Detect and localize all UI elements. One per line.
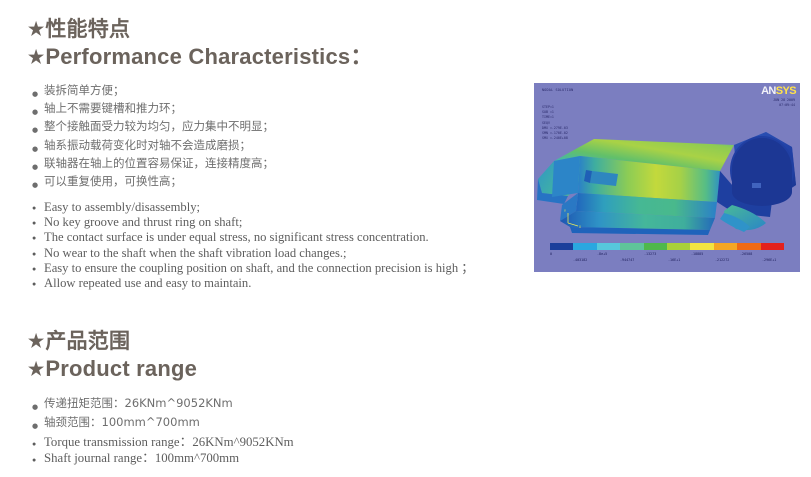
list-item: The contact surface is under equal stres… xyxy=(32,230,474,245)
product-range-heading-cn: ★产品范围 xyxy=(28,328,197,355)
colorbar-tick-label: .26508 xyxy=(740,252,752,256)
performance-bullets-en: Easy to assembly/disassembly; No key gro… xyxy=(32,200,474,291)
page-root: ★性能特点 ★Performance Characteristics： 装拆简单… xyxy=(0,0,811,477)
performance-heading-en: ★Performance Characteristics： xyxy=(28,43,373,71)
list-item: Torque transmission range：26KNm^9052KNm xyxy=(32,434,294,450)
colorbar-tick-label: .18885 xyxy=(691,252,703,256)
list-item: Shaft journal range：100mm^700mm xyxy=(32,450,294,466)
fea-header-text: NODAL SOLUTION xyxy=(542,88,573,93)
colorbar-swatch xyxy=(667,243,690,250)
list-item: Easy to ensure the coupling position on … xyxy=(32,261,474,276)
list-item: Allow repeated use and easy to maintain. xyxy=(32,276,474,291)
fea-model-geometry: Y X xyxy=(534,101,800,236)
list-item: 整个接触面受力较为均匀，应力集中不明显； xyxy=(32,117,274,135)
performance-heading-group: ★性能特点 ★Performance Characteristics： xyxy=(28,16,373,71)
colorbar-tick-label: .16E+1 xyxy=(668,258,680,262)
product-range-heading-cn-text: 产品范围 xyxy=(45,330,130,353)
star-icon: ★ xyxy=(28,47,44,67)
colorbar-tick-label: .944747 xyxy=(620,258,634,262)
list-item: No key groove and thrust ring on shaft; xyxy=(32,215,474,230)
star-icon: ★ xyxy=(28,359,44,379)
star-icon: ★ xyxy=(28,19,44,39)
list-item: 轴颈范围：100mm^700mm xyxy=(32,413,233,432)
performance-bullets-cn: 装拆简单方便； 轴上不需要键槽和推力环； 整个接触面受力较为均匀，应力集中不明显… xyxy=(32,81,274,190)
ansys-logo: ANSYS xyxy=(761,85,796,97)
colorbar-swatch xyxy=(761,243,784,250)
colorbar-swatch xyxy=(620,243,643,250)
svg-text:X: X xyxy=(579,225,581,229)
product-range-heading-group: ★产品范围 ★Product range xyxy=(28,328,197,383)
list-item: Easy to assembly/disassembly; xyxy=(32,200,474,215)
performance-heading-cn-text: 性能特点 xyxy=(45,18,130,41)
list-item: No wear to the shaft when the shaft vibr… xyxy=(32,246,474,261)
colorbar-swatch xyxy=(690,243,713,250)
colorbar-swatch xyxy=(597,243,620,250)
colorbar-tick-label: 0 xyxy=(550,252,552,256)
ansys-logo-an: AN xyxy=(761,85,776,97)
product-range-heading-en: ★Product range xyxy=(28,355,197,383)
list-item: 可以重复使用，可换性高； xyxy=(32,172,274,190)
colorbar-tick-label: .296E+1 xyxy=(762,258,776,262)
fea-canvas: NODAL SOLUTION STEP=1 SUB =1 TIME=1 SEQV… xyxy=(534,83,800,272)
performance-heading-cn: ★性能特点 xyxy=(28,16,373,43)
list-item: 轴系振动载荷变化时对轴不会造成磨损； xyxy=(32,136,274,154)
product-range-bullets-cn: 传递扭矩范围：26KNm^9052KNm 轴颈范围：100mm^700mm xyxy=(32,394,233,432)
ansys-logo-sys: SYS xyxy=(776,85,796,97)
ansys-fea-figure: NODAL SOLUTION STEP=1 SUB =1 TIME=1 SEQV… xyxy=(534,83,800,272)
colorbar-swatch xyxy=(550,243,573,250)
colorbar-swatch xyxy=(714,243,737,250)
colorbar-tick-label: .8e+5 xyxy=(597,252,607,256)
star-icon: ★ xyxy=(28,331,44,351)
colorbar-swatch xyxy=(737,243,760,250)
colorbar-tick-label: .13273 xyxy=(644,252,656,256)
colorbar-tick-label: .212272 xyxy=(715,258,729,262)
fea-colorbar xyxy=(550,243,784,250)
colorbar-swatch xyxy=(644,243,667,250)
list-item: 联轴器在轴上的位置容易保证，连接精度高； xyxy=(32,154,274,172)
list-item: 轴上不需要键槽和推力环； xyxy=(32,99,274,117)
list-item: 传递扭矩范围：26KNm^9052KNm xyxy=(32,394,233,413)
colorbar-swatch xyxy=(573,243,596,250)
performance-heading-en-text: Performance Characteristics： xyxy=(45,44,372,69)
svg-text:Y: Y xyxy=(564,209,566,213)
list-item: 装拆简单方便； xyxy=(32,81,274,99)
product-range-heading-en-text: Product range xyxy=(45,356,197,381)
colorbar-tick-label: .403182 xyxy=(573,258,587,262)
product-range-bullets-en: Torque transmission range：26KNm^9052KNm … xyxy=(32,434,294,466)
